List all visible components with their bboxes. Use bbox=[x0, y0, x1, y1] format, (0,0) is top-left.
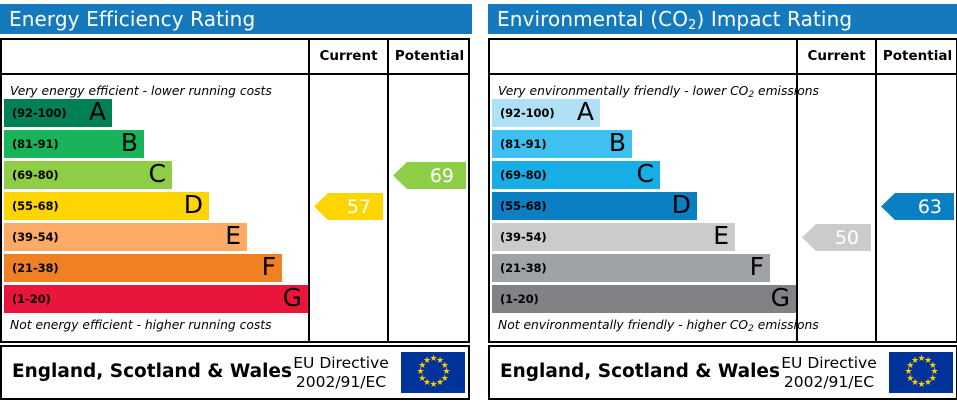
co2-impact-rating-chart: Environmental (CO2) Impact Rating Curren… bbox=[488, 0, 957, 400]
energy-band-a: (92-100)A bbox=[4, 99, 112, 127]
co2-divider-potential bbox=[875, 40, 877, 341]
co2-band-b: (81-91)B bbox=[492, 130, 632, 158]
energy-band-range-g: (1-20) bbox=[12, 292, 51, 306]
energy-band-d: (55-68)D bbox=[4, 192, 209, 220]
co2-band-letter-e: E bbox=[713, 223, 729, 251]
energy-band-c: (69-80)C bbox=[4, 161, 172, 189]
energy-band-range-a: (92-100) bbox=[12, 106, 67, 120]
chart-title-co2-suffix: ) Impact Rating bbox=[696, 7, 852, 31]
co2-caption-bottom-suffix: emissions bbox=[754, 318, 819, 332]
co2-band-c: (69-80)C bbox=[492, 161, 660, 189]
energy-potential-rating-arrow: 69 bbox=[393, 162, 466, 189]
co2-band-range-b: (81-91) bbox=[500, 137, 547, 151]
eu-flag-icon: ★★★★★★★★★★★★ bbox=[401, 352, 465, 393]
energy-band-e: (39-54)E bbox=[4, 223, 247, 251]
eu-flag-star: ★ bbox=[911, 358, 918, 365]
energy-footer-directive: EU Directive 2002/91/EC bbox=[286, 354, 396, 392]
co2-band-letter-d: D bbox=[672, 192, 691, 220]
energy-directive-line2: 2002/91/EC bbox=[286, 373, 396, 392]
co2-column-header-current: Current bbox=[798, 40, 875, 73]
energy-chart-frame: Current Potential Very energy efficient … bbox=[0, 38, 470, 343]
energy-divider-current bbox=[308, 40, 310, 341]
energy-band-range-b: (81-91) bbox=[12, 137, 59, 151]
energy-current-rating-arrow: 57 bbox=[314, 193, 383, 220]
co2-potential-rating-arrow: 63 bbox=[881, 193, 954, 220]
energy-band-letter-g: G bbox=[283, 285, 302, 313]
chart-title-co2: Environmental (CO2) Impact Rating bbox=[488, 4, 957, 34]
co2-band-letter-c: C bbox=[637, 161, 654, 189]
co2-footer-region: England, Scotland & Wales bbox=[500, 361, 780, 382]
co2-band-letter-g: G bbox=[771, 285, 790, 313]
energy-band-letter-b: B bbox=[121, 130, 138, 158]
co2-chart-frame: Current Potential Very environmentally f… bbox=[488, 38, 957, 343]
chart-title-energy-text: Energy Efficiency Rating bbox=[9, 7, 255, 31]
co2-band-letter-f: F bbox=[750, 254, 764, 282]
co2-footer: England, Scotland & Wales EU Directive 2… bbox=[488, 345, 957, 400]
co2-band-range-c: (69-80) bbox=[500, 168, 547, 182]
co2-current-rating-arrow: 50 bbox=[802, 224, 871, 251]
eu-flag-icon: ★★★★★★★★★★★★ bbox=[889, 352, 953, 393]
energy-band-letter-a: A bbox=[89, 99, 106, 127]
energy-band-f: (21-38)F bbox=[4, 254, 282, 282]
energy-column-header-potential: Potential bbox=[389, 40, 470, 73]
chart-title-co2-subscript: 2 bbox=[688, 18, 696, 33]
co2-band-letter-a: A bbox=[577, 99, 594, 127]
energy-band-letter-c: C bbox=[149, 161, 166, 189]
co2-band-a: (92-100)A bbox=[492, 99, 600, 127]
energy-caption-top: Very energy efficient - lower running co… bbox=[10, 84, 272, 98]
co2-band-range-a: (92-100) bbox=[500, 106, 555, 120]
energy-band-letter-e: E bbox=[225, 223, 241, 251]
co2-band-f: (21-38)F bbox=[492, 254, 770, 282]
co2-caption-top-text: Very environmentally friendly - lower CO bbox=[498, 84, 748, 98]
energy-directive-line1: EU Directive bbox=[286, 354, 396, 373]
energy-divider-potential bbox=[387, 40, 389, 341]
epc-charts-page: Energy Efficiency Rating Current Potenti… bbox=[0, 0, 957, 404]
co2-caption-top: Very environmentally friendly - lower CO… bbox=[498, 84, 819, 98]
co2-directive-line1: EU Directive bbox=[774, 354, 884, 373]
co2-caption-top-subscript: 2 bbox=[748, 90, 754, 100]
co2-caption-bottom: Not environmentally friendly - higher CO… bbox=[498, 318, 819, 332]
co2-directive-line2: 2002/91/EC bbox=[774, 373, 884, 392]
co2-footer-directive: EU Directive 2002/91/EC bbox=[774, 354, 884, 392]
energy-efficiency-rating-chart: Energy Efficiency Rating Current Potenti… bbox=[0, 0, 472, 400]
co2-caption-bottom-subscript: 2 bbox=[748, 324, 754, 334]
co2-caption-bottom-text: Not environmentally friendly - higher CO bbox=[498, 318, 748, 332]
co2-band-g: (1-20)G bbox=[492, 285, 796, 313]
co2-band-e: (39-54)E bbox=[492, 223, 735, 251]
eu-flag-star: ★ bbox=[423, 358, 430, 365]
energy-band-letter-d: D bbox=[184, 192, 203, 220]
co2-band-range-f: (21-38) bbox=[500, 261, 547, 275]
energy-band-range-f: (21-38) bbox=[12, 261, 59, 275]
co2-band-range-g: (1-20) bbox=[500, 292, 539, 306]
energy-band-b: (81-91)B bbox=[4, 130, 144, 158]
energy-footer: England, Scotland & Wales EU Directive 2… bbox=[0, 345, 470, 400]
co2-band-letter-b: B bbox=[609, 130, 626, 158]
co2-band-range-e: (39-54) bbox=[500, 230, 547, 244]
co2-band-d: (55-68)D bbox=[492, 192, 697, 220]
energy-column-header-row: Current Potential bbox=[2, 40, 468, 75]
chart-title-energy: Energy Efficiency Rating bbox=[0, 4, 472, 34]
co2-band-range-d: (55-68) bbox=[500, 199, 547, 213]
co2-caption-top-suffix: emissions bbox=[754, 84, 819, 98]
energy-band-range-e: (39-54) bbox=[12, 230, 59, 244]
energy-band-g: (1-20)G bbox=[4, 285, 308, 313]
energy-footer-region: England, Scotland & Wales bbox=[12, 361, 292, 382]
energy-band-range-d: (55-68) bbox=[12, 199, 59, 213]
energy-caption-bottom: Not energy efficient - higher running co… bbox=[10, 318, 272, 332]
energy-band-letter-f: F bbox=[262, 254, 276, 282]
chart-title-co2-text: Environmental (CO bbox=[497, 7, 688, 31]
energy-column-header-current: Current bbox=[310, 40, 387, 73]
co2-column-header-potential: Potential bbox=[877, 40, 957, 73]
co2-column-header-row: Current Potential bbox=[490, 40, 956, 75]
energy-band-range-c: (69-80) bbox=[12, 168, 59, 182]
